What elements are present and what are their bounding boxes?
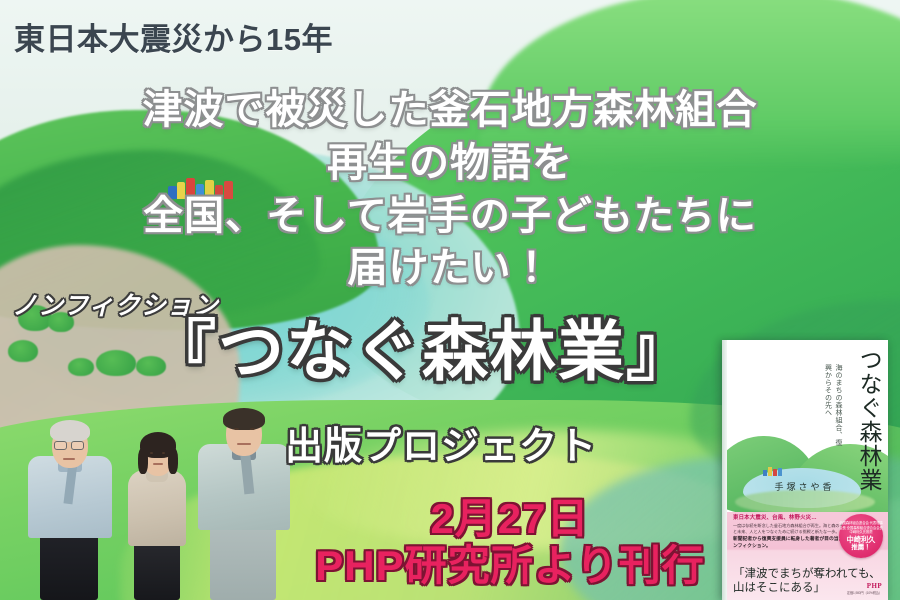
badge-name: 中崎利久 (847, 536, 876, 544)
hair (50, 420, 90, 442)
cover-shore (735, 490, 875, 512)
person-right (194, 408, 298, 600)
glasses-icon (54, 441, 67, 450)
eye (150, 452, 153, 454)
promo-banner: 東日本大震災から15年 津波で被災した釜石地方森林組合 再生の物語を 全国、そし… (0, 0, 900, 600)
book-price: 定価1,980円（10%税込） (847, 590, 882, 595)
book-cover-artwork: つなぐ森林業 海のまちの森林組合、復興からその先へ 手塚さや香 (727, 340, 888, 512)
book-cover: つなぐ森林業 海のまちの森林組合、復興からその先へ 手塚さや香 東日本大震災、台… (722, 340, 888, 600)
mouth (153, 463, 163, 465)
kicker-headline: 東日本大震災から15年 (14, 14, 333, 59)
hair-side (138, 448, 148, 474)
cover-village (763, 466, 785, 476)
village-houses (168, 176, 238, 202)
person-left (22, 408, 118, 600)
release-date: 2月27日 (300, 495, 720, 542)
eye (234, 428, 239, 430)
cover-author: 手塚さや香 (727, 480, 882, 493)
foreground-tree (68, 358, 94, 376)
badge-top-text: 全国森林組合連合会 代表理事会長 全国森林組合連合会会長 中崎利久氏推薦 (839, 521, 883, 535)
book-obi: 東日本大震災、台風、林野火災… 一度は存続を断念した釜石地方森林組合が再生。海と… (727, 512, 888, 600)
cover-subtitle: 海のまちの森林組合、復興からその先へ (823, 364, 844, 448)
glasses-icon (71, 441, 84, 450)
foreground-tree (96, 350, 136, 376)
hair (223, 408, 265, 430)
publisher-mark: PHP 定価1,980円（10%税込） (847, 582, 882, 595)
release-publisher: PHP研究所より刊行 (300, 542, 720, 589)
person-center (120, 422, 198, 600)
mouth (237, 443, 251, 445)
eye (162, 452, 165, 454)
badge-word: 推薦！ (851, 544, 870, 551)
recommendation-badge: 全国森林組合連合会 代表理事会長 全国森林組合連合会会長 中崎利久氏推薦 中崎利… (839, 514, 883, 558)
team-photo (8, 408, 308, 600)
hair-side (168, 448, 178, 474)
book-title: 『つなぐ森林業』 (150, 318, 694, 384)
project-label: 出版プロジェクト (285, 415, 597, 470)
release-info: 2月27日 PHP研究所より刊行 (300, 495, 720, 589)
eye (250, 428, 255, 430)
cover-title: つなぐ森林業 (856, 348, 880, 492)
publisher-logo: PHP (847, 582, 882, 590)
mouth (63, 458, 75, 460)
foreground-tree (8, 340, 38, 362)
